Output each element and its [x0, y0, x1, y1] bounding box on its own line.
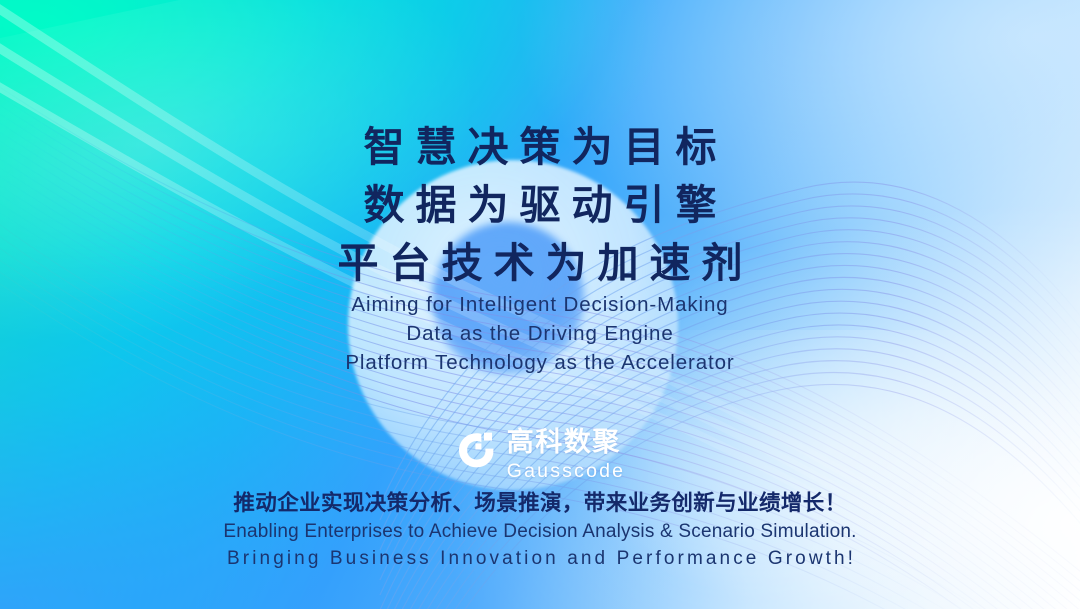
tagline-english-line-2: Bringing Business Innovation and Perform… — [0, 545, 1080, 572]
gausscode-logo-mark-icon — [455, 429, 497, 471]
headline-line-1: 智慧决策为目标 — [0, 118, 1080, 176]
brand-logo-wordmark: 高科数聚 Gausscode — [507, 428, 625, 483]
banner-canvas: 智慧决策为目标 数据为驱动引擎 平台技术为加速剂 Aiming for Inte… — [0, 0, 1080, 609]
subheadline-line-3: Platform Technology as the Accelerator — [0, 348, 1080, 377]
headline-line-3: 平台技术为加速剂 — [0, 234, 1080, 292]
subheadline-block: Aiming for Intelligent Decision-Making D… — [0, 290, 1080, 377]
headline-line-2: 数据为驱动引擎 — [0, 176, 1080, 234]
tagline-chinese: 推动企业实现决策分析、场景推演，带来业务创新与业绩增长！ — [0, 486, 1080, 517]
brand-logo: 高科数聚 Gausscode — [0, 428, 1080, 483]
brand-name-en: Gausscode — [507, 459, 625, 483]
subheadline-line-2: Data as the Driving Engine — [0, 319, 1080, 348]
tagline-english-line-1: Enabling Enterprises to Achieve Decision… — [0, 518, 1080, 545]
subheadline-line-1: Aiming for Intelligent Decision-Making — [0, 290, 1080, 319]
tagline-english-block: Enabling Enterprises to Achieve Decision… — [0, 518, 1080, 572]
brand-name-cn: 高科数聚 — [507, 428, 621, 456]
headline-block: 智慧决策为目标 数据为驱动引擎 平台技术为加速剂 — [0, 118, 1080, 292]
banner-content: 智慧决策为目标 数据为驱动引擎 平台技术为加速剂 Aiming for Inte… — [0, 0, 1080, 609]
